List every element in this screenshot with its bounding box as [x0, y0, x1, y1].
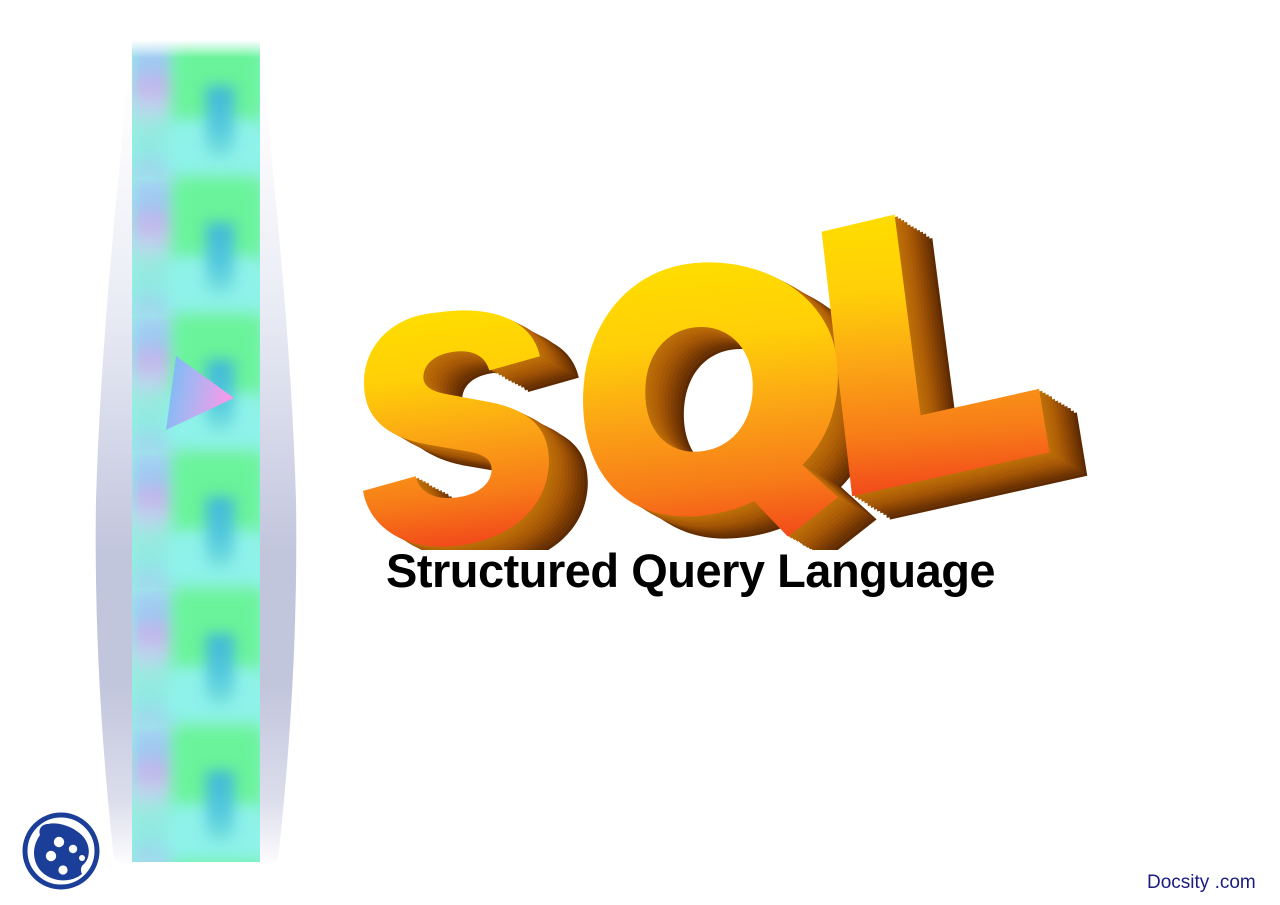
- slide-canvas: Structured Query Language Docsity .com: [0, 0, 1280, 905]
- band-pattern-strip: [132, 40, 260, 862]
- docsity-logo-icon[interactable]: [18, 808, 104, 894]
- docsity-watermark[interactable]: Docsity .com: [1147, 872, 1256, 894]
- sql-wordart-title: [330, 180, 1090, 550]
- gradient-triangle-icon: [160, 352, 236, 434]
- decorative-band: [92, 30, 292, 875]
- slide-subtitle: Structured Query Language: [386, 543, 1046, 599]
